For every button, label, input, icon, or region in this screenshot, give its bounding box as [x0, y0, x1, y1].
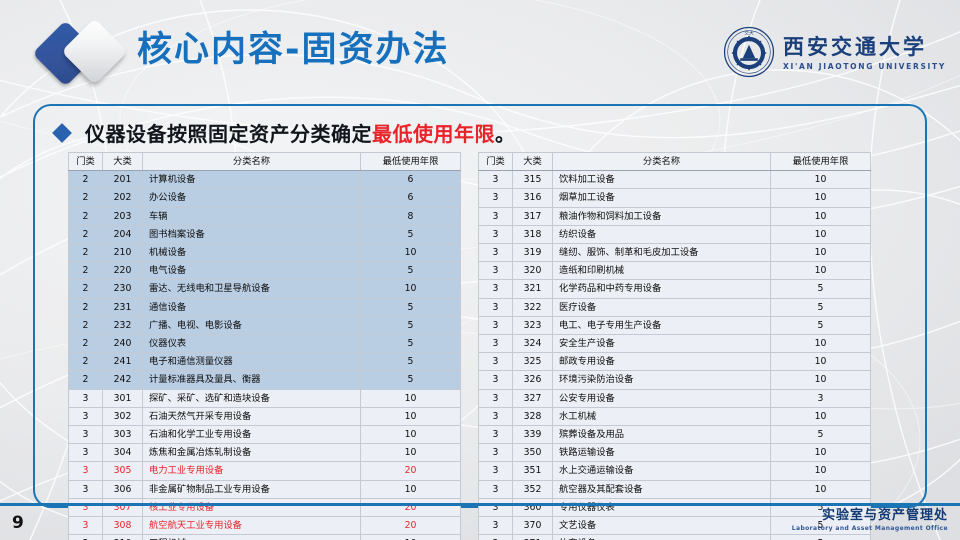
cell-category: 3	[479, 335, 513, 353]
table-row: 2232广播、电视、电影设备5	[69, 316, 461, 334]
header-years: 最低使用年限	[771, 153, 871, 171]
cell-category: 2	[69, 207, 103, 225]
bullet-text: 仪器设备按照固定资产分类确定最低使用年限。	[85, 118, 516, 147]
cell-category: 3	[69, 517, 103, 535]
table-row: 3321化学药品和中药专用设备5	[479, 280, 871, 298]
cell-years: 8	[361, 207, 461, 225]
cell-name: 铁路运输设备	[553, 444, 771, 462]
university-logo: 交大 西安交通大学 XI'AN JIAOTONG UNIVERSITY	[723, 26, 946, 78]
cell-name: 炼焦和金属冶炼轧制设备	[143, 444, 361, 462]
table-row: 2204图书档案设备5	[69, 225, 461, 243]
cell-category: 3	[69, 535, 103, 540]
table-row: 3315饮料加工设备10	[479, 171, 871, 189]
cell-name: 办公设备	[143, 189, 361, 207]
cell-years: 10	[771, 444, 871, 462]
table-row: 3308航空航天工业专用设备20	[69, 517, 461, 535]
cell-years: 10	[771, 207, 871, 225]
classification-table-left: 门类 大类 分类名称 最低使用年限 2201计算机设备62202办公设备6220…	[68, 152, 461, 540]
header-name: 分类名称	[143, 153, 361, 171]
cell-years: 10	[361, 389, 461, 407]
decorative-diamonds	[40, 22, 148, 84]
cell-name: 通信设备	[143, 298, 361, 316]
cell-years: 20	[361, 462, 461, 480]
table-row: 3310工程机械10	[69, 535, 461, 540]
table-row: 3325邮政专用设备10	[479, 353, 871, 371]
cell-major: 231	[103, 298, 143, 316]
logo-name-en: XI'AN JIAOTONG UNIVERSITY	[783, 62, 946, 71]
bullet-text-before: 仪器设备按照固定资产分类确定	[85, 122, 372, 146]
cell-category: 3	[479, 371, 513, 389]
table-row: 3306非金属矿物制品工业专用设备10	[69, 480, 461, 498]
table-header-row: 门类 大类 分类名称 最低使用年限	[479, 153, 871, 171]
cell-category: 2	[69, 225, 103, 243]
table-row: 3303石油和化学工业专用设备10	[69, 426, 461, 444]
table-row: 3305电力工业专用设备20	[69, 462, 461, 480]
cell-category: 3	[479, 280, 513, 298]
cell-name: 电子和通信测量仪器	[143, 353, 361, 371]
cell-major: 317	[513, 207, 553, 225]
cell-years: 6	[361, 189, 461, 207]
bullet-text-highlight: 最低使用年限	[372, 122, 495, 146]
cell-category: 3	[479, 462, 513, 480]
cell-years: 5	[361, 316, 461, 334]
cell-name: 石油天然气开采专用设备	[143, 407, 361, 425]
cell-major: 310	[103, 535, 143, 540]
bullet-diamond-icon	[52, 123, 72, 143]
table-row: 3317粮油作物和饲料加工设备10	[479, 207, 871, 225]
cell-major: 324	[513, 335, 553, 353]
cell-years: 10	[771, 189, 871, 207]
cell-category: 3	[479, 498, 513, 516]
cell-major: 301	[103, 389, 143, 407]
table-row: 3320造纸和印刷机械10	[479, 262, 871, 280]
cell-name: 烟草加工设备	[553, 189, 771, 207]
table-row: 2203车辆8	[69, 207, 461, 225]
cell-category: 3	[479, 444, 513, 462]
cell-name: 粮油作物和饲料加工设备	[553, 207, 771, 225]
cell-name: 雷达、无线电和卫星导航设备	[143, 280, 361, 298]
cell-name: 医疗设备	[553, 298, 771, 316]
cell-category: 3	[479, 262, 513, 280]
cell-name: 饮料加工设备	[553, 171, 771, 189]
cell-years: 10	[771, 353, 871, 371]
cell-major: 328	[513, 407, 553, 425]
cell-category: 3	[479, 517, 513, 535]
cell-category: 3	[479, 535, 513, 540]
right-table-block: 门类 大类 分类名称 最低使用年限 3315饮料加工设备103316烟草加工设备…	[478, 152, 870, 540]
slide-header: 核心内容-固资办法 交大	[0, 0, 960, 100]
cell-category: 2	[69, 353, 103, 371]
cell-category: 3	[479, 316, 513, 334]
cell-category: 2	[69, 171, 103, 189]
cell-years: 10	[361, 444, 461, 462]
right-table-body: 3315饮料加工设备103316烟草加工设备103317粮油作物和饲料加工设备1…	[479, 171, 871, 540]
cell-major: 202	[103, 189, 143, 207]
cell-major: 201	[103, 171, 143, 189]
cell-major: 316	[513, 189, 553, 207]
table-row: 2220电气设备5	[69, 262, 461, 280]
cell-major: 339	[513, 426, 553, 444]
cell-category: 2	[69, 316, 103, 334]
cell-years: 6	[361, 171, 461, 189]
cell-years: 10	[361, 535, 461, 540]
cell-category: 3	[479, 353, 513, 371]
cell-name: 水工机械	[553, 407, 771, 425]
cell-major: 242	[103, 371, 143, 389]
cell-category: 2	[69, 298, 103, 316]
university-seal-icon: 交大	[723, 26, 775, 78]
cell-name: 机械设备	[143, 244, 361, 262]
cell-category: 3	[479, 189, 513, 207]
table-row: 2230雷达、无线电和卫星导航设备10	[69, 280, 461, 298]
cell-major: 352	[513, 480, 553, 498]
cell-years: 5	[361, 353, 461, 371]
cell-category: 3	[479, 407, 513, 425]
cell-years: 10	[771, 262, 871, 280]
header-major: 大类	[513, 153, 553, 171]
cell-years: 5	[361, 371, 461, 389]
cell-major: 304	[103, 444, 143, 462]
footer-dept-en: Laboratory and Asset Management Office	[792, 524, 948, 533]
cell-major: 302	[103, 407, 143, 425]
table-row: 3318纺织设备10	[479, 225, 871, 243]
cell-name: 安全生产设备	[553, 335, 771, 353]
cell-name: 电力工业专用设备	[143, 462, 361, 480]
cell-name: 石油和化学工业专用设备	[143, 426, 361, 444]
cell-category: 3	[69, 444, 103, 462]
cell-years: 5	[771, 535, 871, 540]
cell-major: 320	[513, 262, 553, 280]
cell-major: 241	[103, 353, 143, 371]
table-row: 2202办公设备6	[69, 189, 461, 207]
cell-years: 3	[771, 389, 871, 407]
cell-major: 303	[103, 426, 143, 444]
cell-name: 核工业专用设备	[143, 498, 361, 516]
cell-years: 5	[361, 298, 461, 316]
cell-major: 315	[513, 171, 553, 189]
cell-category: 2	[69, 371, 103, 389]
cell-category: 3	[69, 498, 103, 516]
cell-name: 缝纫、服饰、制革和毛皮加工设备	[553, 244, 771, 262]
table-row: 3371体育设备5	[479, 535, 871, 540]
cell-name: 化学药品和中药专用设备	[553, 280, 771, 298]
cell-name: 体育设备	[553, 535, 771, 540]
cell-name: 造纸和印刷机械	[553, 262, 771, 280]
cell-major: 350	[513, 444, 553, 462]
cell-name: 图书档案设备	[143, 225, 361, 243]
cell-years: 10	[771, 171, 871, 189]
cell-category: 3	[479, 225, 513, 243]
table-row: 3350铁路运输设备10	[479, 444, 871, 462]
table-row: 3352航空器及其配套设备10	[479, 480, 871, 498]
table-row: 3328水工机械10	[479, 407, 871, 425]
cell-years: 10	[361, 407, 461, 425]
table-row: 3339殡葬设备及用品5	[479, 426, 871, 444]
cell-name: 文艺设备	[553, 517, 771, 535]
cell-category: 3	[69, 480, 103, 498]
cell-name: 公安专用设备	[553, 389, 771, 407]
cell-name: 车辆	[143, 207, 361, 225]
cell-name: 非金属矿物制品工业专用设备	[143, 480, 361, 498]
cell-category: 2	[69, 189, 103, 207]
cell-category: 3	[479, 244, 513, 262]
cell-name: 邮政专用设备	[553, 353, 771, 371]
cell-category: 2	[69, 262, 103, 280]
cell-major: 204	[103, 225, 143, 243]
header-major: 大类	[103, 153, 143, 171]
header-years: 最低使用年限	[361, 153, 461, 171]
table-row: 2240仪器仪表5	[69, 335, 461, 353]
footer-divider	[0, 503, 960, 506]
cell-years: 5	[771, 280, 871, 298]
table-row: 2210机械设备10	[69, 244, 461, 262]
cell-years: 10	[771, 225, 871, 243]
cell-major: 360	[513, 498, 553, 516]
cell-category: 3	[479, 389, 513, 407]
table-row: 3319缝纫、服饰、制革和毛皮加工设备10	[479, 244, 871, 262]
header-name: 分类名称	[553, 153, 771, 171]
cell-major: 319	[513, 244, 553, 262]
cell-major: 318	[513, 225, 553, 243]
left-table-block: 门类 大类 分类名称 最低使用年限 2201计算机设备62202办公设备6220…	[68, 152, 460, 540]
cell-major: 220	[103, 262, 143, 280]
cell-years: 10	[771, 480, 871, 498]
page-title: 核心内容-固资办法	[137, 26, 450, 74]
cell-name: 计量标准器具及量具、衡器	[143, 371, 361, 389]
table-header-row: 门类 大类 分类名称 最低使用年限	[69, 153, 461, 171]
classification-table-right: 门类 大类 分类名称 最低使用年限 3315饮料加工设备103316烟草加工设备…	[478, 152, 871, 540]
cell-category: 3	[479, 426, 513, 444]
cell-name: 广播、电视、电影设备	[143, 316, 361, 334]
cell-major: 326	[513, 371, 553, 389]
cell-years: 5	[361, 225, 461, 243]
cell-major: 325	[513, 353, 553, 371]
cell-category: 3	[69, 407, 103, 425]
cell-major: 308	[103, 517, 143, 535]
bullet-text-after: 。	[495, 122, 516, 146]
cell-major: 230	[103, 280, 143, 298]
cell-major: 305	[103, 462, 143, 480]
cell-category: 2	[69, 244, 103, 262]
table-row: 3326环境污染防治设备10	[479, 371, 871, 389]
cell-major: 210	[103, 244, 143, 262]
cell-years: 5	[771, 316, 871, 334]
cell-name: 纺织设备	[553, 225, 771, 243]
table-row: 3307核工业专用设备20	[69, 498, 461, 516]
cell-major: 370	[513, 517, 553, 535]
cell-name: 环境污染防治设备	[553, 371, 771, 389]
cell-major: 307	[103, 498, 143, 516]
table-row: 2201计算机设备6	[69, 171, 461, 189]
cell-name: 计算机设备	[143, 171, 361, 189]
cell-name: 电工、电子专用生产设备	[553, 316, 771, 334]
footer-brand: 实验室与资产管理处 Laboratory and Asset Managemen…	[792, 508, 948, 533]
cell-category: 3	[69, 462, 103, 480]
cell-category: 3	[69, 389, 103, 407]
cell-category: 3	[479, 298, 513, 316]
cell-years: 20	[361, 498, 461, 516]
table-row: 3323电工、电子专用生产设备5	[479, 316, 871, 334]
cell-name: 航空航天工业专用设备	[143, 517, 361, 535]
table-row: 3351水上交通运输设备10	[479, 462, 871, 480]
cell-category: 3	[479, 480, 513, 498]
logo-name-cn: 西安交通大学	[783, 34, 927, 60]
cell-major: 306	[103, 480, 143, 498]
cell-category: 3	[479, 207, 513, 225]
cell-major: 203	[103, 207, 143, 225]
cell-major: 323	[513, 316, 553, 334]
cell-years: 10	[771, 244, 871, 262]
table-row: 3316烟草加工设备10	[479, 189, 871, 207]
table-row: 3322医疗设备5	[479, 298, 871, 316]
cell-years: 5	[771, 298, 871, 316]
page-number: 9	[12, 513, 24, 533]
cell-years: 5	[361, 335, 461, 353]
table-row: 2231通信设备5	[69, 298, 461, 316]
cell-name: 工程机械	[143, 535, 361, 540]
cell-years: 10	[771, 407, 871, 425]
cell-years: 10	[361, 280, 461, 298]
cell-name: 仪器仪表	[143, 335, 361, 353]
cell-years: 5	[361, 262, 461, 280]
cell-major: 322	[513, 298, 553, 316]
cell-years: 10	[361, 244, 461, 262]
cell-name: 殡葬设备及用品	[553, 426, 771, 444]
table-row: 2241电子和通信测量仪器5	[69, 353, 461, 371]
cell-years: 10	[771, 462, 871, 480]
cell-category: 2	[69, 335, 103, 353]
cell-years: 10	[771, 371, 871, 389]
cell-years: 10	[361, 426, 461, 444]
cell-major: 321	[513, 280, 553, 298]
cell-years: 10	[771, 335, 871, 353]
header-category: 门类	[479, 153, 513, 171]
cell-name: 水上交通运输设备	[553, 462, 771, 480]
cell-years: 5	[771, 426, 871, 444]
left-table-body: 2201计算机设备62202办公设备62203车辆82204图书档案设备5221…	[69, 171, 461, 540]
cell-major: 240	[103, 335, 143, 353]
cell-name: 探矿、采矿、选矿和造块设备	[143, 389, 361, 407]
table-row: 3302石油天然气开采专用设备10	[69, 407, 461, 425]
cell-major: 327	[513, 389, 553, 407]
footer-dept-cn: 实验室与资产管理处	[792, 508, 948, 524]
bullet-line: 仪器设备按照固定资产分类确定最低使用年限。	[55, 118, 516, 147]
table-row: 3304炼焦和金属冶炼轧制设备10	[69, 444, 461, 462]
cell-years: 20	[361, 517, 461, 535]
cell-category: 3	[69, 426, 103, 444]
cell-category: 3	[479, 171, 513, 189]
cell-name: 航空器及其配套设备	[553, 480, 771, 498]
cell-name: 电气设备	[143, 262, 361, 280]
classification-tables: 门类 大类 分类名称 最低使用年限 2201计算机设备62202办公设备6220…	[0, 152, 960, 540]
cell-major: 351	[513, 462, 553, 480]
cell-category: 2	[69, 280, 103, 298]
cell-years: 10	[361, 480, 461, 498]
cell-name: 专用仪器仪表	[553, 498, 771, 516]
slide: 核心内容-固资办法 交大	[0, 0, 960, 540]
cell-major: 232	[103, 316, 143, 334]
table-row: 2242计量标准器具及量具、衡器5	[69, 371, 461, 389]
table-row: 3327公安专用设备3	[479, 389, 871, 407]
cell-major: 371	[513, 535, 553, 540]
table-row: 3324安全生产设备10	[479, 335, 871, 353]
table-row: 3301探矿、采矿、选矿和造块设备10	[69, 389, 461, 407]
header-category: 门类	[69, 153, 103, 171]
